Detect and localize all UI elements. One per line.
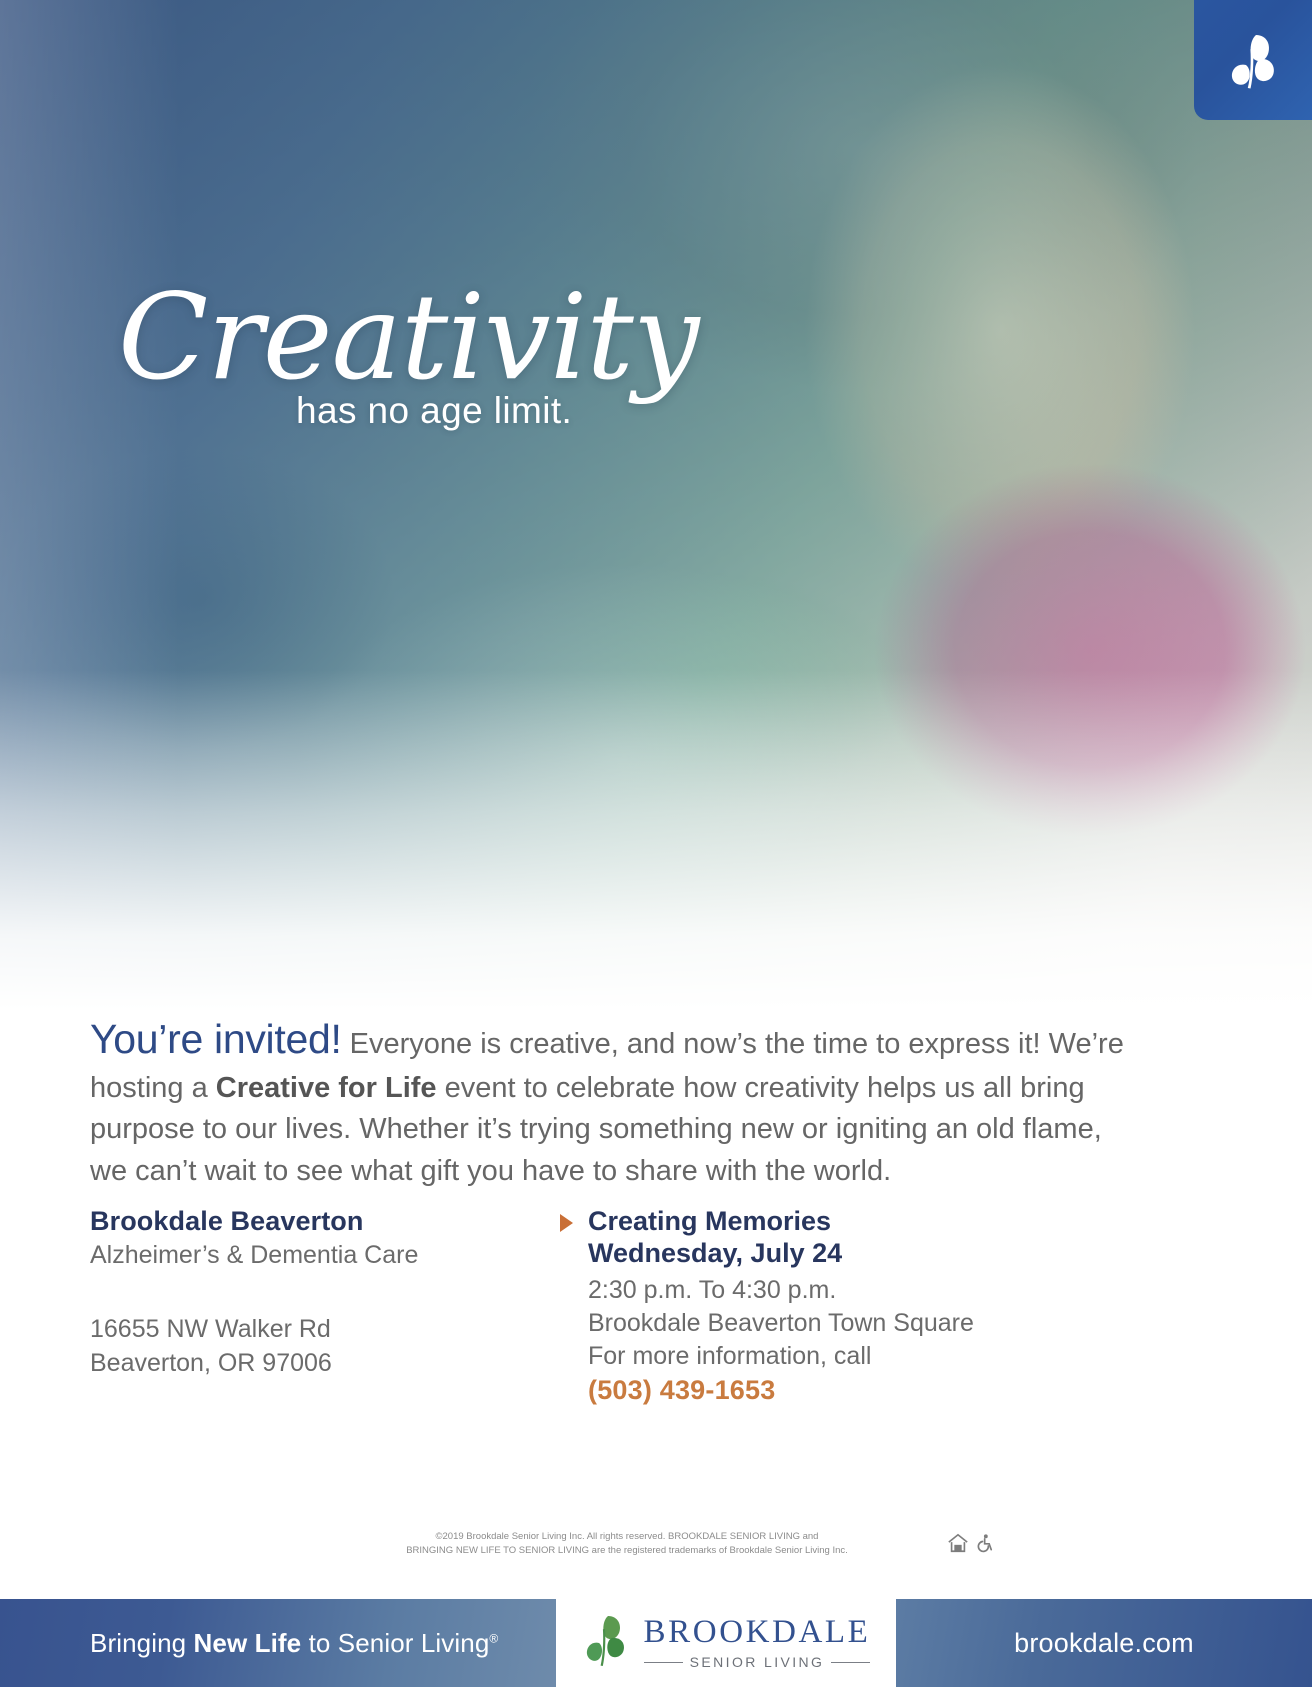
footer-logo-wordmark: BROOKDALE SENIOR LIVING	[644, 1616, 871, 1670]
details-columns: Brookdale Beaverton Alzheimer’s & Dement…	[0, 1206, 1312, 1406]
venue-column: Brookdale Beaverton Alzheimer’s & Dement…	[0, 1206, 560, 1406]
venue-city-state-zip: Beaverton, OR 97006	[90, 1346, 560, 1380]
brand-badge	[1194, 0, 1312, 120]
footer-tagline: Bringing New Life to Senior Living®	[0, 1628, 498, 1659]
copyright-line-1: ©2019 Brookdale Senior Living Inc. All r…	[317, 1530, 937, 1544]
headline-script-text: Creativity	[118, 278, 838, 396]
brookdale-sprig-icon	[1226, 29, 1280, 91]
footer-website-panel[interactable]: brookdale.com	[896, 1599, 1312, 1687]
footer-tagline-mark: ®	[489, 1631, 498, 1645]
event-details: 2:30 p.m. To 4:30 p.m. Brookdale Beavert…	[588, 1274, 1312, 1374]
copyright-line-2: BRINGING NEW LIFE TO SENIOR LIVING are t…	[317, 1544, 937, 1558]
event-column: Creating Memories Wednesday, July 24 2:3…	[560, 1206, 1312, 1406]
triangle-bullet-icon	[560, 1214, 573, 1232]
logo-rule-left	[644, 1662, 683, 1663]
footer-tagline-pre: Bringing	[90, 1628, 194, 1658]
logo-rule-right	[831, 1662, 870, 1663]
footer-logo-name: BROOKDALE	[644, 1616, 871, 1649]
venue-street: 16655 NW Walker Rd	[90, 1312, 560, 1346]
hero-headline: Creativity has no age limit.	[118, 278, 838, 432]
venue-address: 16655 NW Walker Rd Beaverton, OR 97006	[90, 1312, 560, 1380]
event-time: 2:30 p.m. To 4:30 p.m.	[588, 1274, 1312, 1307]
venue-name: Brookdale Beaverton	[90, 1206, 560, 1237]
content-area: You’re invited! Everyone is creative, an…	[0, 1010, 1312, 1192]
event-call-label: For more information, call	[588, 1340, 1312, 1373]
footer-tagline-bold: New Life	[194, 1628, 302, 1658]
copyright-text: ©2019 Brookdale Senior Living Inc. All r…	[317, 1530, 937, 1559]
footer-tagline-panel: Bringing New Life to Senior Living®	[0, 1599, 556, 1687]
hero-bottom-fade	[0, 670, 1312, 1010]
brookdale-leaf-logo-icon	[582, 1613, 630, 1674]
fineprint-icons	[947, 1530, 995, 1559]
event-location: Brookdale Beaverton Town Square	[588, 1307, 1312, 1340]
footer-tagline-post: to Senior Living	[301, 1628, 489, 1658]
hero-banner: Creativity has no age limit.	[0, 0, 1312, 1010]
event-title-line1: Creating Memories	[588, 1206, 1312, 1238]
footer-logo-panel: BROOKDALE SENIOR LIVING	[556, 1599, 896, 1687]
footer-logo-tagline: SENIOR LIVING	[690, 1654, 825, 1670]
invitation-lead: You’re invited!	[90, 1016, 342, 1062]
event-title: Creating Memories Wednesday, July 24	[588, 1206, 1312, 1270]
footer-logo-tagline-row: SENIOR LIVING	[644, 1654, 871, 1670]
footer-bar: Bringing New Life to Senior Living® BROO…	[0, 1599, 1312, 1687]
equal-housing-opportunity-icon	[947, 1532, 969, 1559]
headline-subtext: has no age limit.	[296, 390, 838, 432]
event-phone-number[interactable]: (503) 439-1653	[588, 1375, 1312, 1406]
fineprint-block: ©2019 Brookdale Senior Living Inc. All r…	[0, 1530, 1312, 1559]
event-title-line2: Wednesday, July 24	[588, 1238, 1312, 1270]
invitation-emphasis: Creative for Life	[216, 1072, 437, 1104]
accessibility-wheelchair-icon	[975, 1532, 995, 1559]
footer-website-url[interactable]: brookdale.com	[1014, 1628, 1194, 1659]
venue-care-type: Alzheimer’s & Dementia Care	[90, 1241, 560, 1270]
invitation-paragraph: You’re invited! Everyone is creative, an…	[0, 1010, 1312, 1192]
